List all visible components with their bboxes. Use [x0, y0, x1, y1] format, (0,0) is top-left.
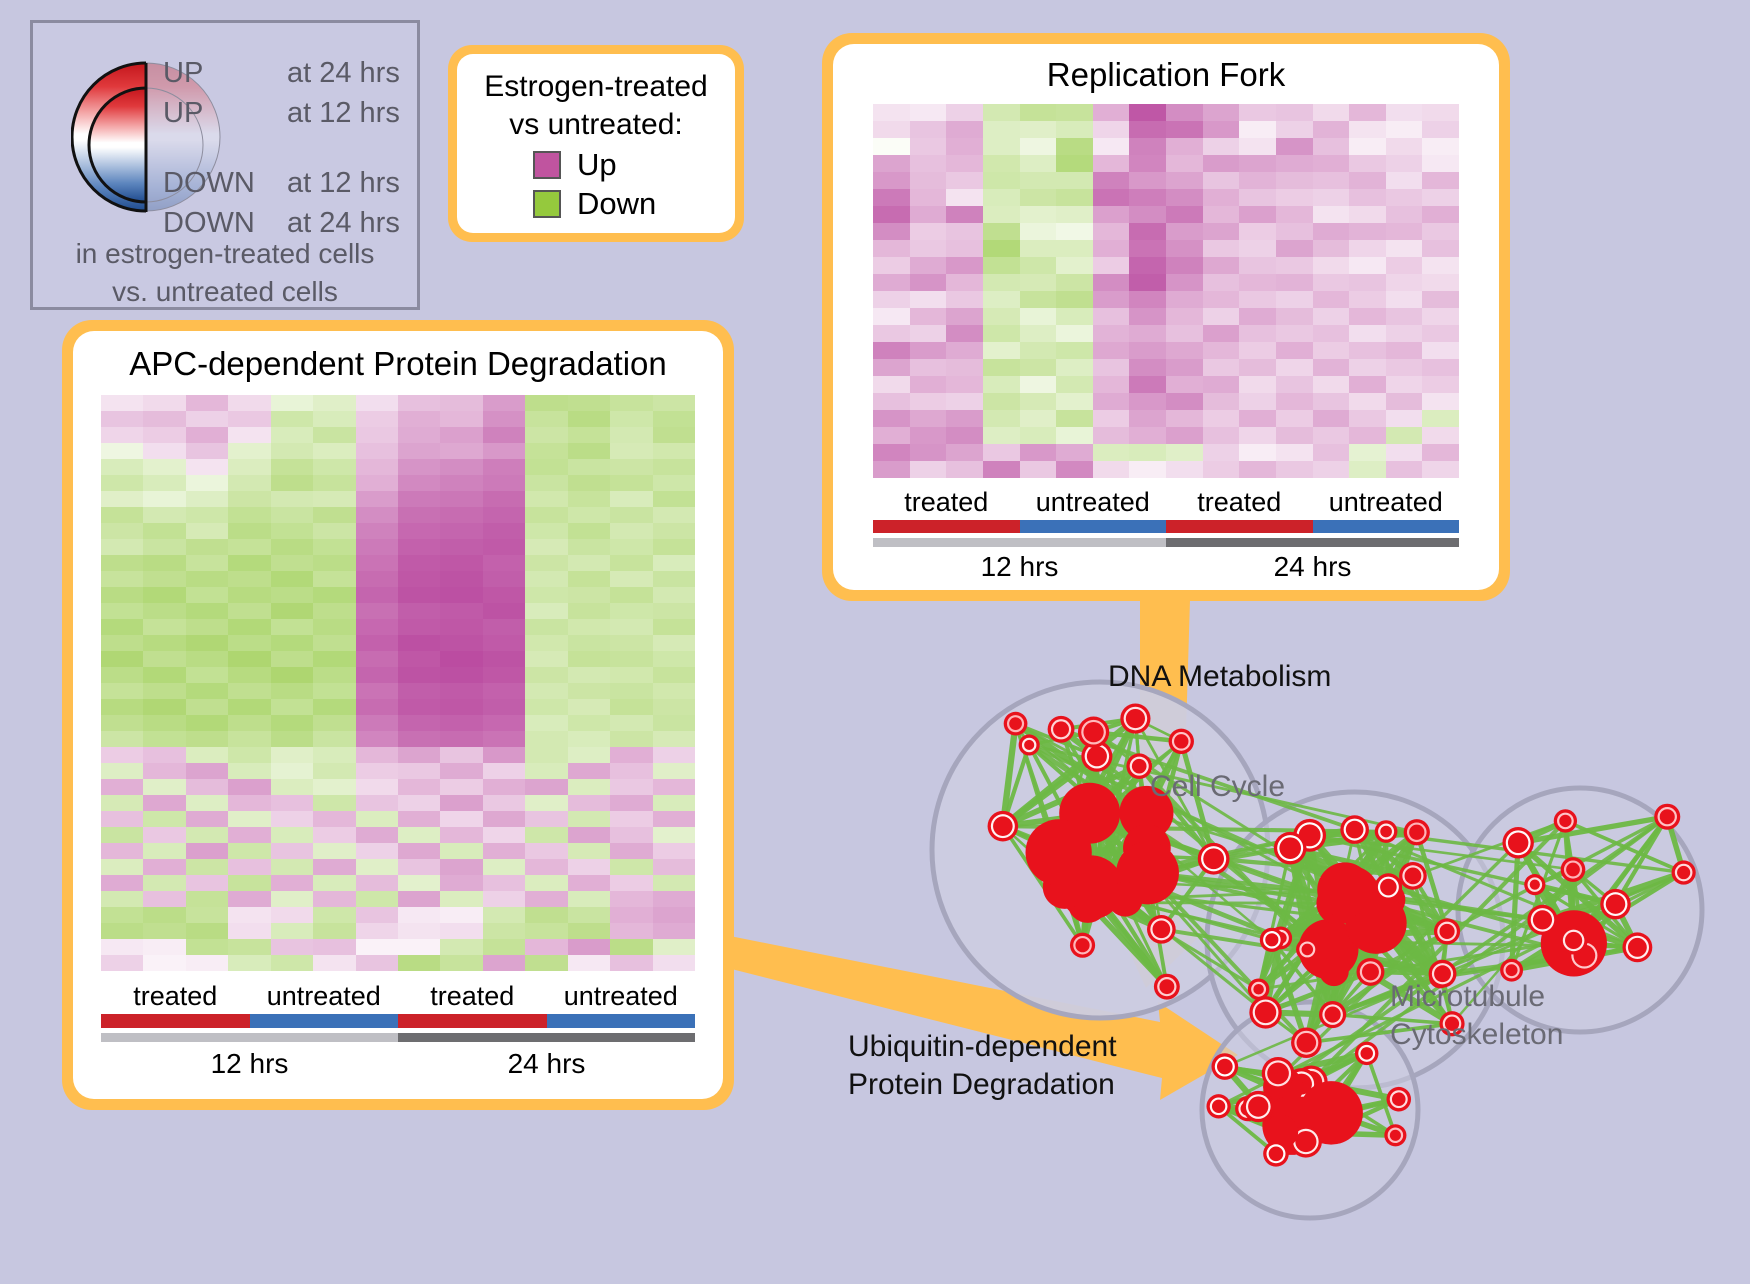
- heatmap-cell: [313, 891, 355, 907]
- heatmap-cell: [653, 427, 695, 443]
- node-core: [1530, 880, 1540, 890]
- heatmap-cell: [1349, 461, 1386, 478]
- heatmap-cell: [483, 827, 525, 843]
- network-node[interactable]: [988, 811, 1019, 842]
- heatmap-cell: [1313, 342, 1350, 359]
- heatmap-cell: [610, 859, 652, 875]
- network-node[interactable]: [1147, 915, 1176, 944]
- heatmap-cell: [101, 715, 143, 731]
- network-node[interactable]: [1375, 820, 1398, 843]
- node-core: [1267, 1063, 1289, 1085]
- heatmap-cell: [525, 875, 567, 891]
- heatmap-cell: [483, 635, 525, 651]
- heatmap-cell: [1239, 325, 1276, 342]
- heatmap-cell: [313, 939, 355, 955]
- heatmap-cell: [568, 523, 610, 539]
- heatmap-cell: [356, 539, 398, 555]
- heatmap-cell: [483, 667, 525, 683]
- heatmap-cell: [1349, 291, 1386, 308]
- heatmap-cell: [483, 427, 525, 443]
- network-node[interactable]: [1004, 712, 1028, 736]
- heatmap-cell: [483, 507, 525, 523]
- heatmap-cell: [483, 939, 525, 955]
- time-bar-segment: [101, 1033, 398, 1042]
- network-node[interactable]: [1622, 932, 1652, 962]
- heatmap-cell: [1349, 376, 1386, 393]
- heatmap-cell: [483, 603, 525, 619]
- heatmap-cell: [1203, 291, 1240, 308]
- node-core: [1628, 938, 1647, 957]
- heatmap-cell: [1056, 393, 1093, 410]
- heatmap-cell: [271, 811, 313, 827]
- heatmap-cell: [568, 875, 610, 891]
- node-core: [1380, 879, 1397, 896]
- heatmap-cell: [873, 444, 910, 461]
- heatmap-cell: [143, 891, 185, 907]
- heatmap-cell: [653, 907, 695, 923]
- heatmap-cell: [946, 342, 983, 359]
- heatmap-cell: [525, 571, 567, 587]
- heatmap-cell: [1020, 206, 1057, 223]
- heatmap-cell: [1093, 189, 1130, 206]
- heatmap-cell: [1203, 223, 1240, 240]
- network-node[interactable]: [1319, 1001, 1346, 1028]
- heatmap-cell: [271, 715, 313, 731]
- heatmap-cell: [1166, 121, 1203, 138]
- heatmap-cell: [983, 359, 1020, 376]
- group-labels: treateduntreatedtreateduntreated: [101, 981, 695, 1012]
- group-bar-segment: [250, 1014, 399, 1028]
- heatmap-cell: [1166, 257, 1203, 274]
- heatmap-cell: [483, 619, 525, 635]
- heatmap-cell: [186, 411, 228, 427]
- heatmap-cell: [653, 395, 695, 411]
- network-node[interactable]: [1434, 918, 1460, 944]
- heatmap-cell: [1313, 138, 1350, 155]
- heatmap-cell: [1239, 138, 1276, 155]
- heatmap-cell: [525, 827, 567, 843]
- heatmap-cell: [228, 779, 270, 795]
- heatmap-cell: [440, 795, 482, 811]
- node-core: [1248, 1096, 1268, 1116]
- heatmap-cell: [483, 587, 525, 603]
- heatmap-cell: [271, 475, 313, 491]
- network-node[interactable]: [1211, 1053, 1238, 1080]
- heatmap-cell: [1239, 223, 1276, 240]
- network-node[interactable]: [1206, 1094, 1230, 1118]
- heatmap-cell: [568, 779, 610, 795]
- heatmap-cell: [186, 395, 228, 411]
- heatmap-cell: [356, 827, 398, 843]
- network-node[interactable]: [1026, 819, 1092, 885]
- heatmap-cell: [610, 715, 652, 731]
- heatmap-cell: [143, 907, 185, 923]
- heatmap-cell: [525, 715, 567, 731]
- heatmap-cell: [873, 138, 910, 155]
- heatmap-cell: [228, 763, 270, 779]
- heatmap-cell: [653, 763, 695, 779]
- heatmap-cell: [398, 955, 440, 971]
- heatmap-cell: [610, 443, 652, 459]
- heatmap-cell: [440, 539, 482, 555]
- heatmap-cell: [440, 699, 482, 715]
- heatmap-cell: [271, 651, 313, 667]
- network-node[interactable]: [1375, 873, 1403, 901]
- heatmap-cell: [1166, 325, 1203, 342]
- heatmap-cell: [653, 715, 695, 731]
- network-node[interactable]: [1249, 996, 1281, 1028]
- group-bar-segment: [101, 1014, 250, 1028]
- heatmap-cell: [313, 699, 355, 715]
- heatmap-cell: [143, 459, 185, 475]
- heatmap-cell: [398, 395, 440, 411]
- heatmap-cell: [1349, 444, 1386, 461]
- heatmap-cell: [483, 411, 525, 427]
- heatmap-cell: [313, 907, 355, 923]
- heatmap-cell: [525, 811, 567, 827]
- heatmap-cell: [313, 571, 355, 587]
- heatmap-cell: [983, 223, 1020, 240]
- network-node[interactable]: [1600, 889, 1630, 919]
- network-node[interactable]: [1554, 809, 1577, 832]
- heatmap-cell: [873, 393, 910, 410]
- heatmap-cell: [1056, 325, 1093, 342]
- heatmap-cell: [228, 635, 270, 651]
- heatmap-cell: [946, 172, 983, 189]
- heatmap-cell: [1276, 206, 1313, 223]
- heatmap-cell: [483, 683, 525, 699]
- heatmap-cell: [271, 555, 313, 571]
- heatmap-cell: [910, 427, 947, 444]
- heatmap-cell: [1166, 189, 1203, 206]
- heatmap-cell: [313, 555, 355, 571]
- network-node[interactable]: [1108, 882, 1143, 917]
- network-node[interactable]: [1263, 1141, 1289, 1167]
- heatmap-cell: [398, 443, 440, 459]
- heatmap-cell: [398, 603, 440, 619]
- node-core: [1302, 944, 1314, 956]
- heatmap-cell: [440, 843, 482, 859]
- heatmap-cell: [873, 104, 910, 121]
- heatmap-cell: [228, 395, 270, 411]
- heatmap-cell: [1422, 427, 1459, 444]
- heatmap-cell: [1386, 376, 1423, 393]
- heatmap-cell: [313, 507, 355, 523]
- heatmap-cell: [101, 763, 143, 779]
- heatmap-cell: [101, 539, 143, 555]
- node-core: [1253, 984, 1264, 995]
- heatmap-cell: [228, 827, 270, 843]
- time-labels: 12 hrs24 hrs: [101, 1048, 695, 1080]
- heatmap-cell: [568, 651, 610, 667]
- heatmap-cell: [983, 257, 1020, 274]
- heatmap-cell: [1056, 291, 1093, 308]
- heatmap-cell: [228, 843, 270, 859]
- network-node[interactable]: [1356, 958, 1384, 986]
- network-node[interactable]: [1019, 734, 1040, 755]
- network-node[interactable]: [1654, 804, 1680, 830]
- heatmap-cell: [873, 359, 910, 376]
- heatmap-cell: [1349, 393, 1386, 410]
- network-node[interactable]: [1355, 1042, 1379, 1066]
- heatmap-cell: [525, 763, 567, 779]
- network-node[interactable]: [1502, 827, 1533, 858]
- heatmap-cell: [356, 811, 398, 827]
- network-node[interactable]: [1527, 905, 1557, 935]
- caption-line-2: vs. untreated cells: [33, 273, 417, 311]
- heatmap-cell: [1239, 291, 1276, 308]
- heatmap-cell: [101, 427, 143, 443]
- legend-direction: DOWN: [163, 163, 287, 203]
- heatmap-cell: [143, 411, 185, 427]
- heatmap-cell: [356, 395, 398, 411]
- heatmap-cell: [228, 443, 270, 459]
- heatmap-cell: [398, 475, 440, 491]
- estrogen-updown-key: Estrogen-treated vs untreated: Up Down: [448, 45, 744, 242]
- heatmap-cell: [653, 747, 695, 763]
- node-core: [1677, 866, 1690, 879]
- key-item-down: Down: [533, 186, 735, 222]
- heatmap-cell: [1166, 308, 1203, 325]
- heatmap-cell: [910, 342, 947, 359]
- heatmap-cell: [228, 715, 270, 731]
- heatmap-cell: [983, 410, 1020, 427]
- heatmap-cell: [983, 376, 1020, 393]
- heatmap-cell: [313, 795, 355, 811]
- heatmap-cell: [440, 715, 482, 731]
- heatmap-cell: [313, 859, 355, 875]
- node-core: [1217, 1059, 1233, 1075]
- network-node[interactable]: [1120, 703, 1150, 733]
- heatmap-cell: [525, 699, 567, 715]
- heatmap-cell: [1313, 257, 1350, 274]
- node-core: [1319, 957, 1349, 987]
- network-node[interactable]: [1404, 819, 1430, 845]
- heatmap-cell: [653, 651, 695, 667]
- heatmap-cell: [143, 875, 185, 891]
- network-node[interactable]: [1384, 1124, 1406, 1146]
- legend-time: at 12 hrs: [287, 163, 400, 203]
- heatmap-cell: [1313, 240, 1350, 257]
- node-core: [1559, 815, 1571, 827]
- heatmap-cell: [271, 891, 313, 907]
- heatmap-cell: [946, 444, 983, 461]
- heatmap-cell: [568, 747, 610, 763]
- network-node[interactable]: [1048, 716, 1075, 743]
- heatmap-cell: [101, 747, 143, 763]
- heatmap-cell: [271, 875, 313, 891]
- heatmap-cell: [910, 240, 947, 257]
- gradient-legend-rows: UP at 24 hrs UP at 12 hrs DOWN at 12 hrs…: [163, 53, 421, 243]
- gradient-legend-caption: in estrogen-treated cells vs. untreated …: [33, 235, 417, 311]
- heatmap-cell: [1422, 325, 1459, 342]
- network-node[interactable]: [1198, 843, 1230, 875]
- heatmap-cell: [946, 274, 983, 291]
- heatmap-cell: [143, 427, 185, 443]
- heatmap-cell: [1386, 274, 1423, 291]
- heatmap-cell: [983, 104, 1020, 121]
- heatmap-cell: [1313, 376, 1350, 393]
- heatmap-cell: [1313, 189, 1350, 206]
- heatmap-cell: [1020, 461, 1057, 478]
- node-core: [1265, 933, 1278, 946]
- network-node[interactable]: [1243, 1091, 1274, 1122]
- network-node[interactable]: [1319, 957, 1349, 987]
- heatmap-cell: [313, 763, 355, 779]
- heatmap-cell: [186, 507, 228, 523]
- heatmap-cell: [313, 843, 355, 859]
- group-bar-segment: [1020, 520, 1167, 533]
- heatmap-cell: [143, 523, 185, 539]
- heatmap-cell: [1093, 444, 1130, 461]
- heatmap-cell: [143, 491, 185, 507]
- network-node[interactable]: [1154, 974, 1180, 1000]
- heatmap-cell: [873, 308, 910, 325]
- heatmap-cell: [271, 459, 313, 475]
- network-node[interactable]: [1296, 938, 1319, 961]
- heatmap-cell: [271, 603, 313, 619]
- heatmap-cell: [228, 667, 270, 683]
- heatmap-cell: [525, 459, 567, 475]
- time-bar-segment: [873, 538, 1166, 547]
- heatmap-cell: [186, 571, 228, 587]
- network-node[interactable]: [1672, 860, 1696, 884]
- network-node[interactable]: [1169, 729, 1194, 754]
- heatmap-cell: [1313, 223, 1350, 240]
- heatmap-cell: [1129, 308, 1166, 325]
- heatmap-cell: [186, 811, 228, 827]
- heatmap-cell: [873, 257, 910, 274]
- heatmap-cell: [143, 603, 185, 619]
- heatmap-cell: [1056, 189, 1093, 206]
- heatmap-cell: [313, 875, 355, 891]
- heatmap-cell: [568, 907, 610, 923]
- heatmap-cell: [356, 891, 398, 907]
- heatmap-cell: [946, 257, 983, 274]
- heatmap-cell: [1203, 393, 1240, 410]
- heatmap-cell: [1056, 410, 1093, 427]
- network-node[interactable]: [1070, 933, 1095, 958]
- heatmap-cell: [610, 491, 652, 507]
- heatmap-cell: [910, 206, 947, 223]
- heatmap-cell: [356, 571, 398, 587]
- heatmap-cell: [653, 539, 695, 555]
- heatmap-cell: [1386, 427, 1423, 444]
- heatmap-cell: [525, 683, 567, 699]
- figure-canvas: UP at 24 hrs UP at 12 hrs DOWN at 12 hrs…: [0, 0, 1750, 1279]
- heatmap-cell: [398, 763, 440, 779]
- heatmap-cell: [143, 955, 185, 971]
- heatmap-cell: [525, 891, 567, 907]
- network-node[interactable]: [1524, 874, 1545, 895]
- heatmap-cell: [228, 875, 270, 891]
- heatmap-cell: [1093, 325, 1130, 342]
- node-core: [1087, 746, 1107, 766]
- heatmap-cell: [1093, 240, 1130, 257]
- heatmap-cell: [356, 555, 398, 571]
- heatmap-cell: [653, 939, 695, 955]
- heatmap-cell: [1056, 359, 1093, 376]
- heatmap-cell: [610, 923, 652, 939]
- heatmap-cell: [228, 859, 270, 875]
- heatmap-cell: [525, 619, 567, 635]
- heatmap-cell: [1020, 121, 1057, 138]
- heatmap-cell: [1129, 342, 1166, 359]
- heatmap-cell: [1349, 189, 1386, 206]
- heatmap-cell: [568, 699, 610, 715]
- heatmap-cell: [186, 427, 228, 443]
- network-node[interactable]: [1126, 753, 1152, 779]
- heatmap-cell: [228, 747, 270, 763]
- network-node[interactable]: [1262, 1057, 1295, 1090]
- heatmap-cell: [271, 699, 313, 715]
- heatmap-cell: [271, 683, 313, 699]
- heatmap-cell: [101, 699, 143, 715]
- heatmap-cell: [1386, 206, 1423, 223]
- heatmap-cell: [1203, 410, 1240, 427]
- heatmap-cell: [101, 395, 143, 411]
- heatmap-cell: [1276, 325, 1313, 342]
- heatmap-cell: [1129, 359, 1166, 376]
- network-node[interactable]: [1317, 862, 1372, 917]
- heatmap-cell: [873, 274, 910, 291]
- heatmap-cell: [313, 603, 355, 619]
- heatmap-cell: [1129, 461, 1166, 478]
- heatmap-cell: [1239, 240, 1276, 257]
- heatmap-cell: [313, 459, 355, 475]
- heatmap-cell: [1020, 325, 1057, 342]
- heatmap-cell: [143, 475, 185, 491]
- heatmap-cell: [873, 410, 910, 427]
- heatmap-cell: [356, 683, 398, 699]
- network-node[interactable]: [1260, 928, 1284, 952]
- heatmap-cell: [983, 461, 1020, 478]
- heatmap-cell: [440, 523, 482, 539]
- heatmap-cell: [228, 475, 270, 491]
- heatmap-cell: [440, 635, 482, 651]
- heatmap-cell: [1166, 359, 1203, 376]
- heatmap-cell: [568, 715, 610, 731]
- network-node[interactable]: [1399, 862, 1427, 890]
- heatmap-cell: [143, 555, 185, 571]
- network-node[interactable]: [1386, 1087, 1411, 1112]
- network-node[interactable]: [1560, 926, 1588, 954]
- network-node[interactable]: [1340, 815, 1369, 844]
- heatmap-cell: [101, 907, 143, 923]
- heatmap-cell: [873, 240, 910, 257]
- heatmap-cell: [313, 539, 355, 555]
- network-node[interactable]: [1274, 832, 1307, 865]
- node-core: [1392, 1092, 1406, 1106]
- heatmap-cell: [653, 875, 695, 891]
- heatmap-cell: [910, 444, 947, 461]
- heatmap-cell: [568, 443, 610, 459]
- heatmap-cell: [1203, 274, 1240, 291]
- heatmap-cell: [610, 587, 652, 603]
- node-core: [1009, 717, 1022, 730]
- heatmap-cell: [313, 667, 355, 683]
- network-node[interactable]: [1291, 1027, 1322, 1058]
- heatmap-cell: [873, 121, 910, 138]
- network-node[interactable]: [1078, 717, 1109, 748]
- network-node[interactable]: [1561, 857, 1586, 882]
- heatmap-cell: [143, 731, 185, 747]
- heatmap-cell: [398, 555, 440, 571]
- heatmap-cell: [653, 699, 695, 715]
- heatmap-cell: [186, 635, 228, 651]
- gradient-legend-box: UP at 24 hrs UP at 12 hrs DOWN at 12 hrs…: [30, 20, 420, 310]
- heatmap-cell: [1239, 206, 1276, 223]
